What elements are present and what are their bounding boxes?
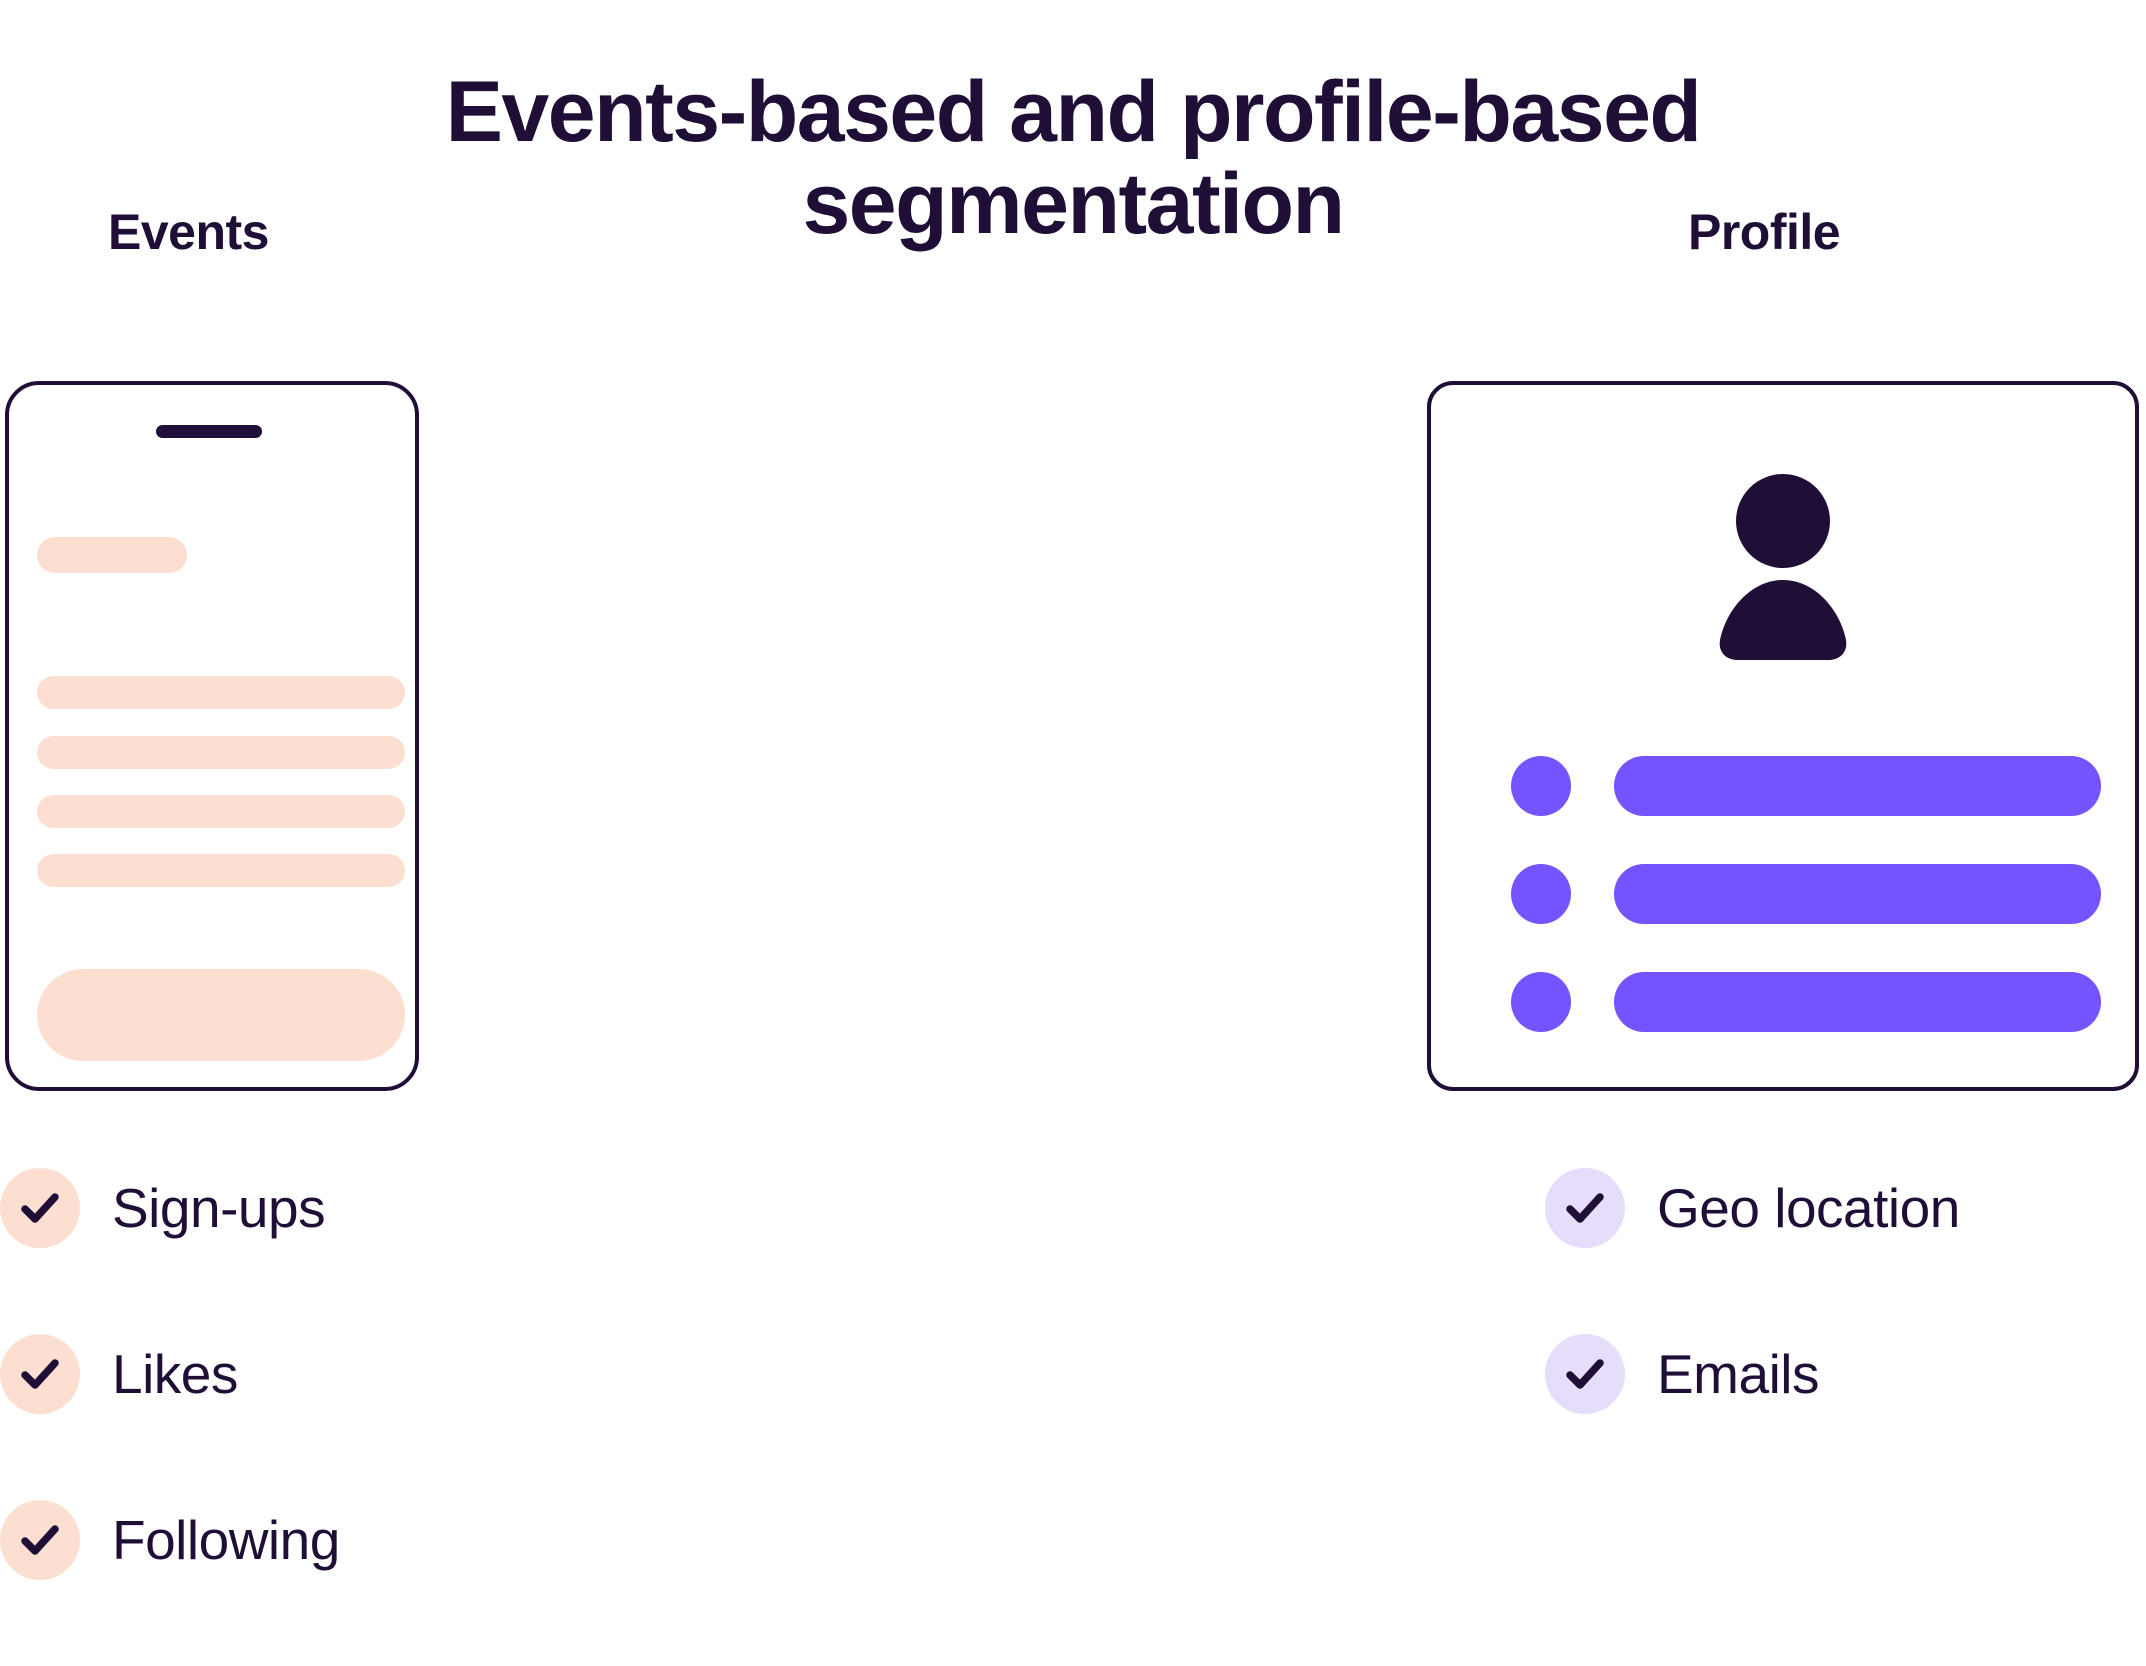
page-title-line-1: Events-based and profile-based [0,66,2146,159]
check-icon [0,1334,80,1414]
list-item[interactable]: Following [0,1500,340,1580]
list-item-label: Emails [1657,1347,1819,1402]
list-item-label: Sign-ups [112,1181,325,1236]
phone-placeholder-block [37,969,405,1061]
events-phone-mockup [5,381,419,1091]
profile-attribute-bar [1614,756,2101,816]
profile-attribute-bar [1614,972,2101,1032]
list-item[interactable]: Likes [0,1334,340,1414]
phone-placeholder-line [37,854,405,887]
profile-attribute-dot [1511,972,1571,1032]
list-item[interactable]: Emails [1545,1334,1960,1414]
check-icon [1545,1168,1625,1248]
profile-column-heading: Profile [1688,203,1840,261]
check-icon [0,1168,80,1248]
profile-attribute-row [1511,755,2101,817]
profile-attribute-dot [1511,864,1571,924]
profile-attribute-bar [1614,864,2101,924]
profile-attribute-row [1511,863,2101,925]
events-column-heading: Events [108,203,269,261]
phone-placeholder-line [37,795,405,828]
list-item-label: Geo location [1657,1181,1960,1236]
list-item[interactable]: Geo location [1545,1168,1960,1248]
list-item-label: Likes [112,1347,238,1402]
check-icon [0,1500,80,1580]
phone-placeholder-line [37,736,405,769]
profile-checklist: Geo location Emails [1545,1168,1960,1500]
list-item-label: Following [112,1513,340,1568]
phone-notch-icon [156,425,262,438]
profile-attribute-row [1511,971,2101,1033]
profile-attribute-dot [1511,756,1571,816]
events-checklist: Sign-ups Likes Following [0,1168,340,1666]
check-icon [1545,1334,1625,1414]
person-icon [1718,474,1848,664]
profile-card-mockup [1427,381,2139,1091]
phone-placeholder-title [37,537,187,573]
list-item[interactable]: Sign-ups [0,1168,340,1248]
phone-placeholder-line [37,676,405,709]
